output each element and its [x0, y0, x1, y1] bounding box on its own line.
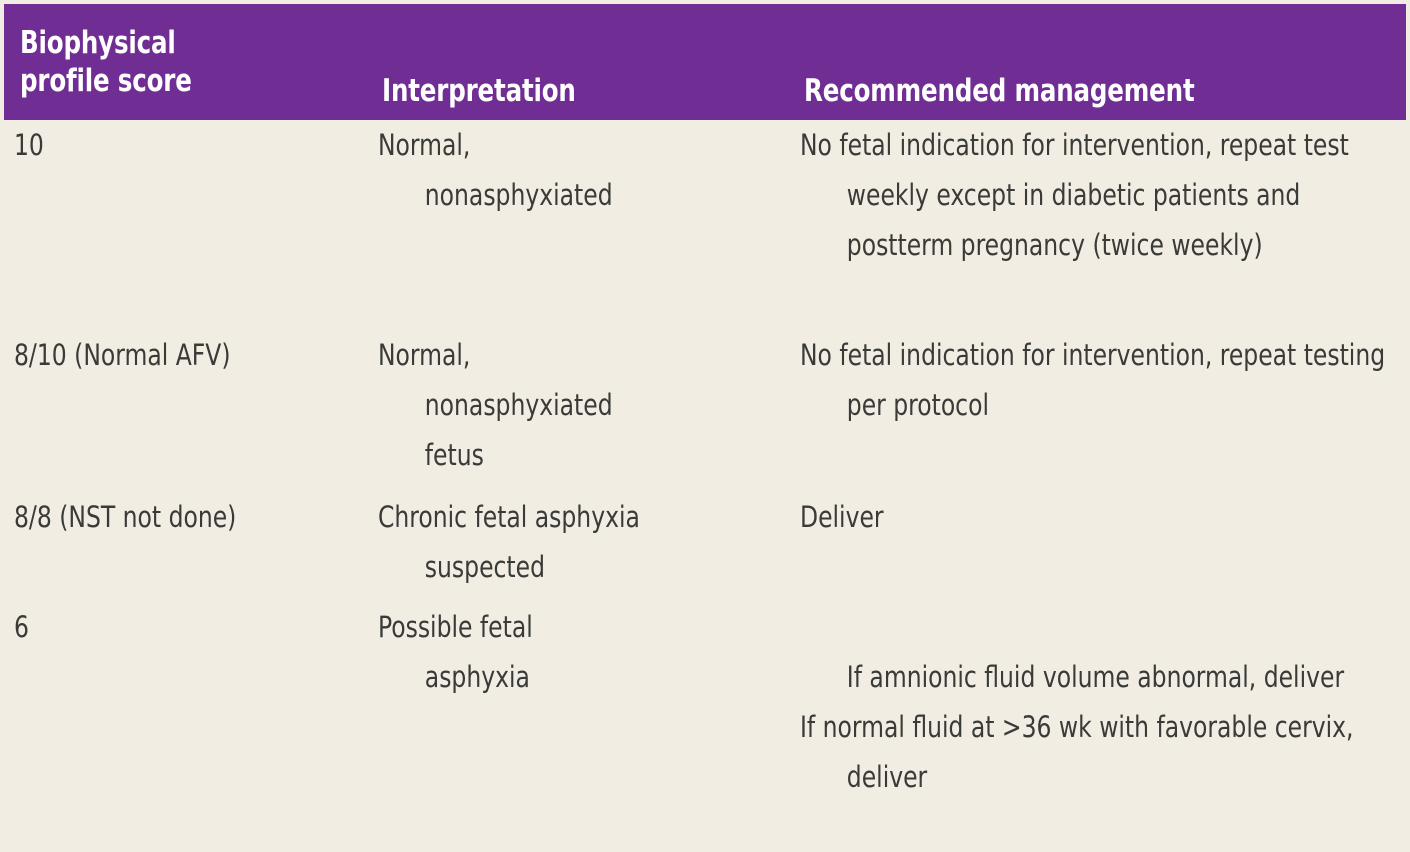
cell-interpretation: Possible fetal asphyxia: [378, 602, 765, 702]
biophysical-profile-table: Biophysical profile score Interpretation…: [0, 0, 1410, 814]
cell-score: 8/8 (NST not done): [14, 492, 392, 542]
cell-management: No fetal indication for intervention, re…: [800, 120, 1410, 270]
column-header-interpretation: Interpretation: [382, 72, 752, 110]
cell-interpretation: Chronic fetal asphyxia suspected: [378, 492, 765, 592]
cell-score: 6: [14, 602, 392, 652]
table-row: 6 Possible fetal asphyxia If amnionic fl…: [0, 602, 1410, 814]
column-header-biophysical-profile-score: Biophysical profile score: [20, 24, 390, 100]
cell-management: No fetal indication for intervention, re…: [800, 330, 1410, 430]
cell-interpretation: Normal, nonasphyxiated: [378, 120, 765, 220]
table-body: 10 Normal, nonasphyxiated No fetal indic…: [0, 120, 1410, 814]
management-line: If normal fluid at >36 wk with favorable…: [847, 702, 1410, 802]
cell-management: If amnionic fluid volume abnormal, deliv…: [800, 602, 1410, 852]
table-row: 8/10 (Normal AFV) Normal, nonasphyxiated…: [0, 330, 1410, 492]
table-row: 10 Normal, nonasphyxiated No fetal indic…: [0, 120, 1410, 330]
column-header-recommended-management: Recommended management: [804, 72, 1410, 110]
cell-score: 8/10 (Normal AFV): [14, 330, 392, 380]
cell-management: Deliver: [800, 492, 1410, 542]
table-row: 8/8 (NST not done) Chronic fetal asphyxi…: [0, 492, 1410, 602]
table-header-row: Biophysical profile score Interpretation…: [4, 4, 1406, 120]
cell-interpretation: Normal, nonasphyxiated fetus: [378, 330, 765, 480]
management-line: If amnionic fluid volume abnormal, deliv…: [847, 660, 1344, 694]
cell-score: 10: [14, 120, 392, 170]
